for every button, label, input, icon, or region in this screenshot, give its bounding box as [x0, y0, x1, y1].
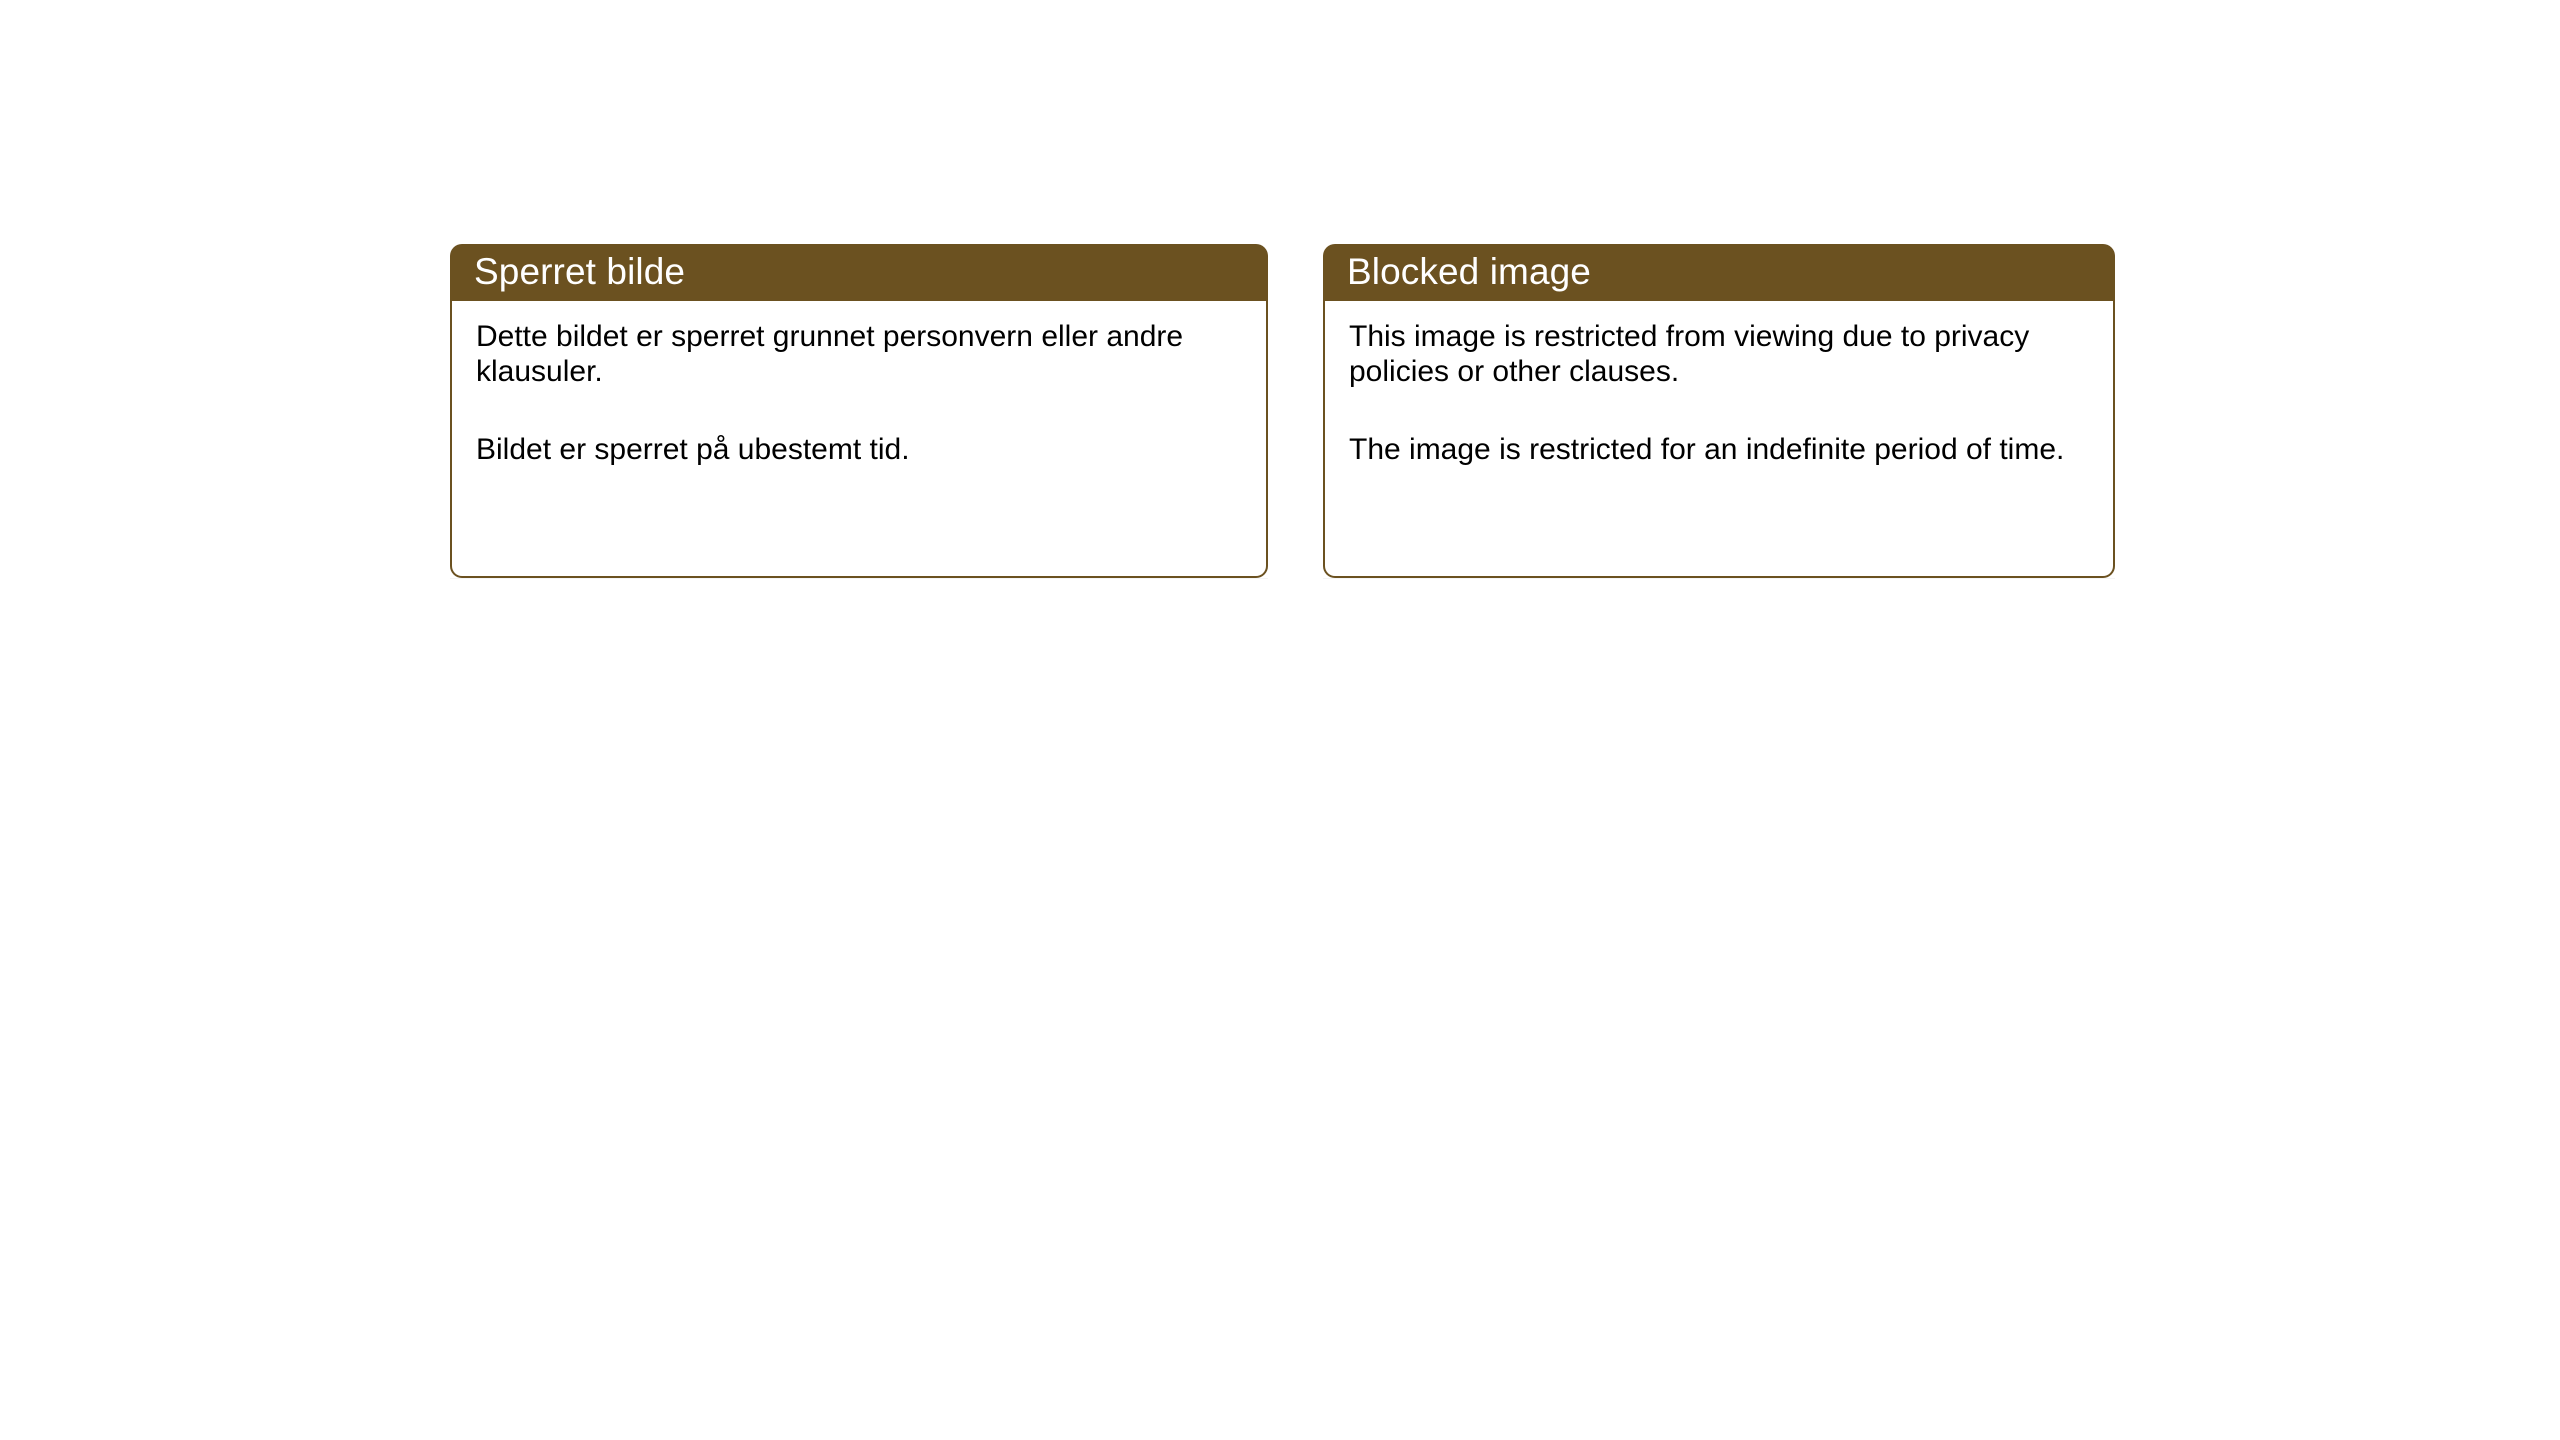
card-paragraph-english-1: This image is restricted from viewing du… — [1349, 319, 2091, 390]
card-paragraph-english-2: The image is restricted for an indefinit… — [1349, 432, 2091, 467]
card-body-english: This image is restricted from viewing du… — [1323, 301, 2115, 578]
card-header-norwegian: Sperret bilde — [450, 244, 1268, 301]
card-title-norwegian: Sperret bilde — [474, 253, 685, 290]
card-paragraph-norwegian-2: Bildet er sperret på ubestemt tid. — [476, 432, 1244, 467]
blocked-image-card-norwegian: Sperret bilde Dette bildet er sperret gr… — [450, 244, 1268, 578]
blocked-image-card-english: Blocked image This image is restricted f… — [1323, 244, 2115, 578]
card-header-english: Blocked image — [1323, 244, 2115, 301]
card-body-norwegian: Dette bildet er sperret grunnet personve… — [450, 301, 1268, 578]
card-paragraph-norwegian-1: Dette bildet er sperret grunnet personve… — [476, 319, 1244, 390]
card-title-english: Blocked image — [1347, 253, 1591, 290]
blocked-image-notices: Sperret bilde Dette bildet er sperret gr… — [450, 244, 2115, 578]
